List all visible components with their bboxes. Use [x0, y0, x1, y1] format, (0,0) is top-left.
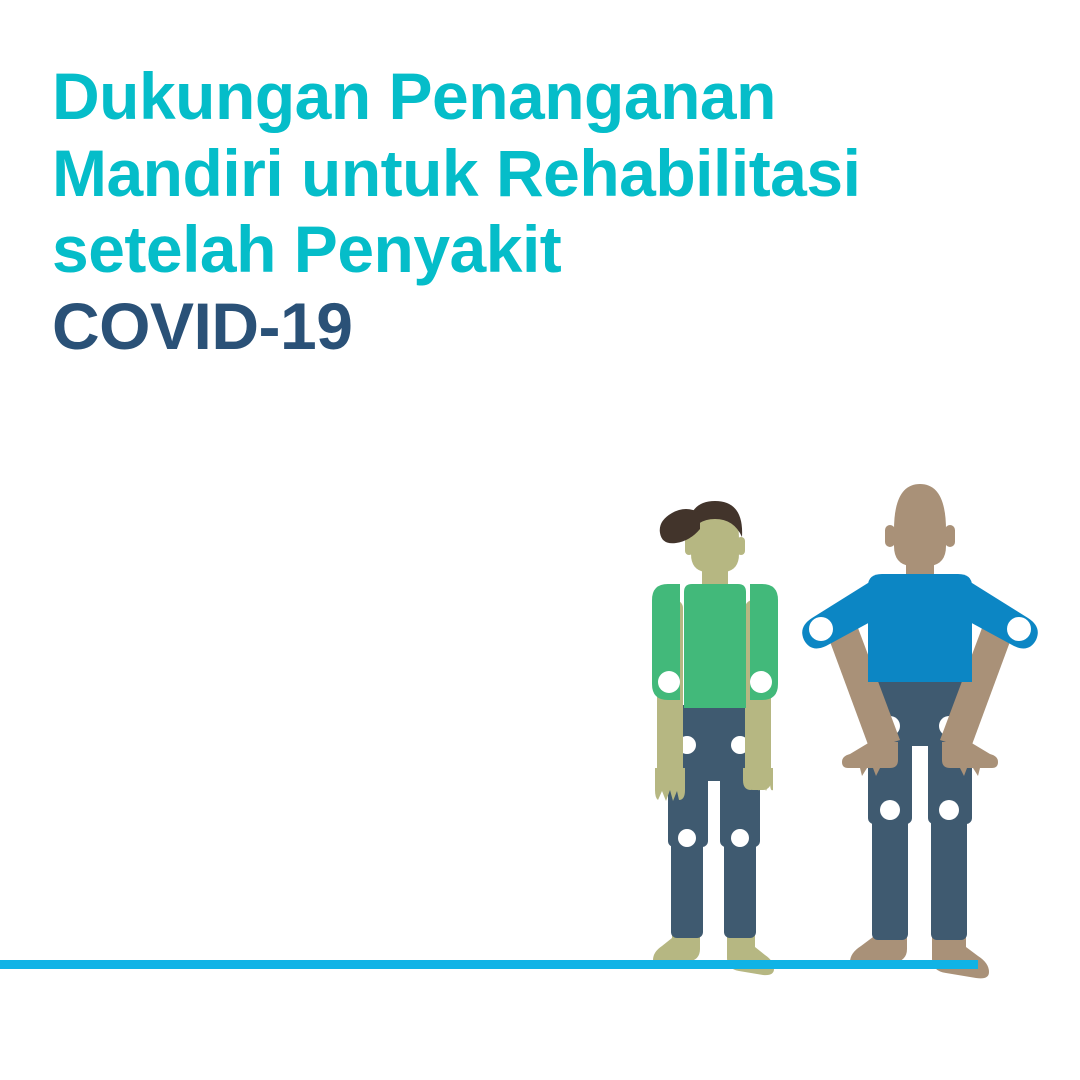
- two-standing-people-illustration: [0, 0, 1080, 1080]
- male-figure: [802, 484, 1038, 978]
- male-shirt-torso: [868, 574, 972, 682]
- ground-line: [0, 960, 978, 969]
- female-right-knee-joint: [731, 829, 749, 847]
- male-right-knee-joint: [939, 800, 959, 820]
- male-right-ear: [945, 525, 955, 547]
- male-head: [894, 484, 946, 566]
- male-left-lower-leg: [872, 810, 908, 940]
- male-left-knee-joint: [880, 800, 900, 820]
- male-right-lower-leg: [931, 810, 967, 940]
- female-right-elbow-joint: [750, 671, 772, 693]
- male-shoes: [850, 925, 989, 978]
- female-left-elbow-joint: [658, 671, 680, 693]
- male-right-elbow-joint: [1007, 617, 1031, 641]
- female-right-ear: [737, 537, 745, 555]
- poster-canvas: Dukungan Penanganan Mandiri untuk Rehabi…: [0, 0, 1080, 1080]
- female-right-lower-leg: [724, 838, 756, 938]
- female-left-knee-joint: [678, 829, 696, 847]
- male-left-ear: [885, 525, 895, 547]
- female-figure: [652, 501, 778, 975]
- female-shirt-torso: [684, 584, 746, 708]
- illustration-svg: [0, 0, 1080, 1080]
- male-left-elbow-joint: [809, 617, 833, 641]
- female-left-lower-leg: [671, 838, 703, 938]
